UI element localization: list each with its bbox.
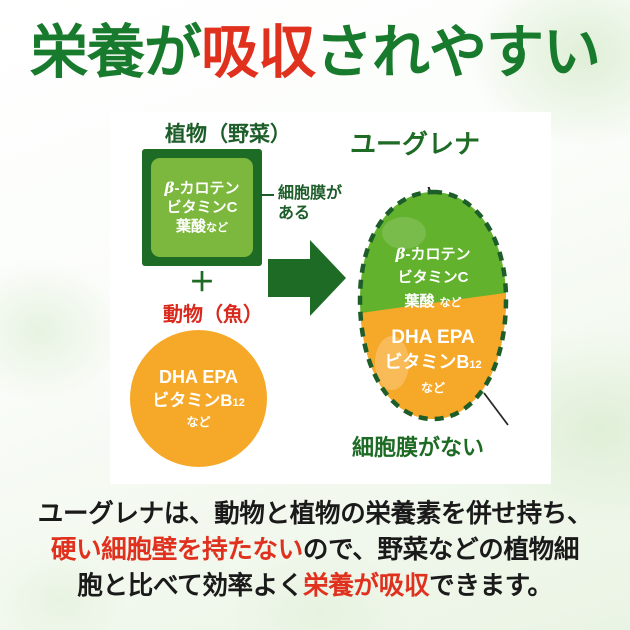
animal-nutrient-line-1: DHA EPA <box>159 366 238 389</box>
headline-part-2-highlight: 吸収 <box>201 20 315 85</box>
caption-line-1: ユーグレナは、動物と植物の栄養素を併せ持ち、 <box>0 496 630 532</box>
membrane-has-line-1: 細胞膜が <box>278 184 342 204</box>
caption-line-2: 硬い細胞壁を持たないので、野菜などの植物細 <box>0 532 630 568</box>
plant-nutrient-line-3: 葉酸など <box>176 217 228 236</box>
caption-line-3-highlight: 栄養が吸収 <box>303 572 429 600</box>
caption-line-3-pre: 胞と比べて効率よく <box>77 572 303 600</box>
svg-text:ビタミンC: ビタミンC <box>398 269 469 286</box>
plant-cell-box: β-カロテン ビタミンC 葉酸など <box>142 149 262 266</box>
page-title: 栄養が吸収されやすい <box>0 24 630 82</box>
plus-sign: ＋ <box>128 269 276 295</box>
animal-nutrients-circle: DHA EPA ビタミンB12 など <box>130 330 267 467</box>
plant-nutrient-etc: など <box>206 222 228 234</box>
caption-line-3: 胞と比べて効率よく栄養が吸収できます。 <box>0 568 630 604</box>
plant-nutrient-line-2: ビタミンC <box>167 198 238 217</box>
caption-text: ユーグレナは、動物と植物の栄養素を併せ持ち、 硬い細胞壁を持たないので、野菜など… <box>0 496 630 605</box>
plant-nutrients-box: β-カロテン ビタミンC 葉酸など <box>151 158 253 257</box>
headline-part-3: されやすい <box>315 20 600 85</box>
svg-text:DHA EPA: DHA EPA <box>391 327 475 348</box>
caption-line-3-post: できます。 <box>429 572 552 600</box>
membrane-has-line-2: ある <box>278 204 342 224</box>
plant-nutrient-folate: 葉酸 <box>176 218 206 235</box>
animal-nutrient-line-2: ビタミンB12 <box>152 390 245 412</box>
plant-label: 植物（野菜） <box>128 118 328 148</box>
plant-nutrient-line-1: β-カロテン <box>165 179 240 198</box>
animal-nutrient-b: ビタミンB <box>152 391 232 410</box>
animal-nutrient-b-sub: 12 <box>233 397 245 409</box>
euglena-cell-shape: β-カロテン ビタミンC 葉酸など DHA EPA ビタミンB12 など <box>346 187 520 426</box>
headline-part-1: 栄養が <box>30 20 201 85</box>
caption-line-2-rest: ので、野菜などの植物細 <box>303 536 579 564</box>
membrane-leader-line <box>260 194 274 196</box>
right-arrow-icon <box>268 240 346 316</box>
diagram-card: 植物（野菜） β-カロテン ビタミンC 葉酸など 細胞膜が ある ＋ 動物（魚）… <box>110 112 551 484</box>
euglena-label: ユーグレナ <box>350 124 550 161</box>
infographic-page: 栄養が吸収されやすい 植物（野菜） β-カロテン ビタミンC 葉酸など 細胞膜が… <box>0 0 630 630</box>
caption-line-2-highlight: 硬い細胞壁を持たない <box>51 536 303 564</box>
membrane-none-label: 細胞膜がない <box>352 430 484 462</box>
svg-text:β-カロテン: β-カロテン <box>395 245 471 263</box>
svg-text:ビタミンB12: ビタミンB12 <box>384 352 481 372</box>
animal-nutrient-etc: など <box>186 415 210 431</box>
svg-text:など: など <box>421 381 445 395</box>
membrane-has-label: 細胞膜が ある <box>278 184 342 223</box>
